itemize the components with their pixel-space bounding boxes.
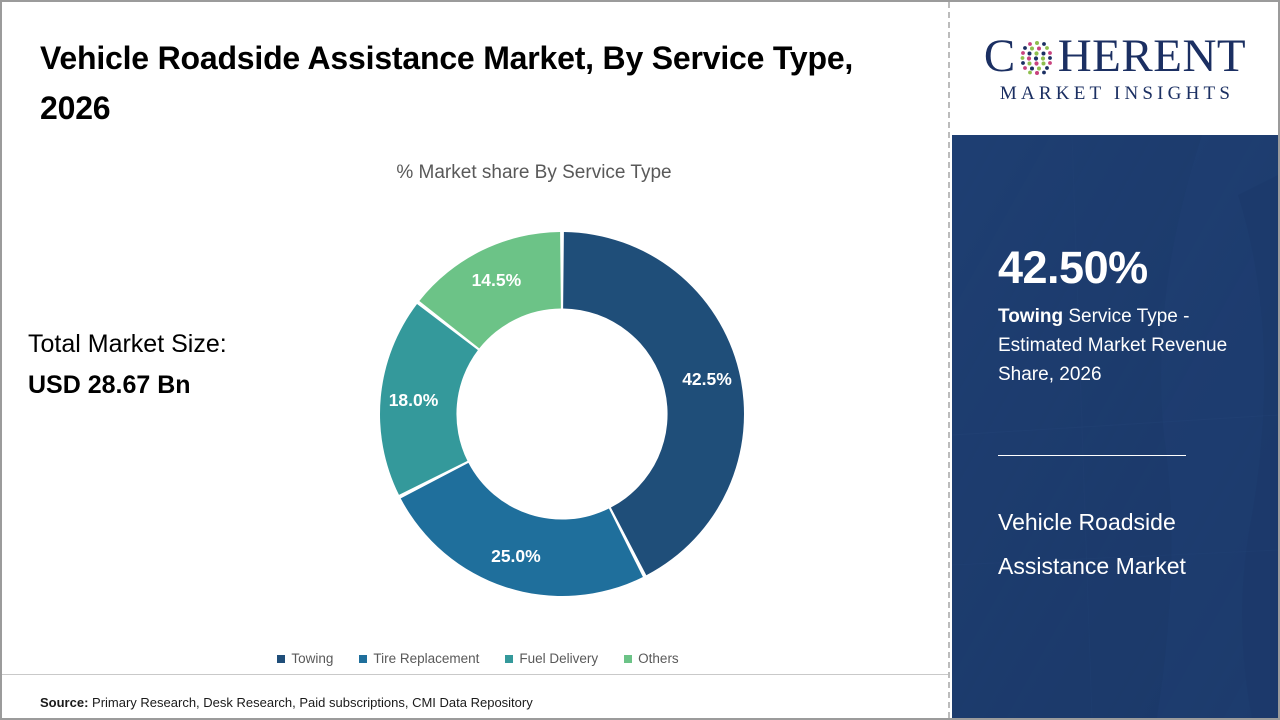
legend-label: Others (638, 651, 679, 666)
chart-legend: TowingTire ReplacementFuel DeliveryOther… (2, 651, 948, 666)
page-title: Vehicle Roadside Assistance Market, By S… (40, 34, 900, 133)
source-text: Primary Research, Desk Research, Paid su… (88, 695, 532, 710)
brand-name-part1: C (984, 33, 1016, 80)
panel-background-texture (952, 135, 1278, 718)
chart-subtitle: % Market share By Service Type (2, 162, 948, 184)
brand-tagline: MARKET INSIGHTS (996, 83, 1234, 105)
total-market-size: Total Market Size: USD 28.67 Bn (28, 324, 227, 406)
panel-dashed-divider (948, 2, 950, 718)
donut-label-others: 14.5% (472, 270, 522, 290)
legend-swatch-icon (624, 655, 632, 663)
stat-description-emphasis: Towing (998, 306, 1063, 327)
source-divider (2, 674, 948, 675)
donut-chart: 42.5%25.0%18.0%14.5% (378, 230, 746, 598)
brand-logo: C (952, 2, 1278, 135)
right-brand-panel: C (952, 2, 1278, 718)
donut-slices (380, 232, 744, 596)
panel-market-name: Vehicle Roadside Assistance Market (998, 501, 1248, 588)
infographic-page: Vehicle Roadside Assistance Market, By S… (0, 0, 1280, 720)
legend-swatch-icon (505, 655, 513, 663)
source-note: Source: Primary Research, Desk Research,… (40, 695, 533, 710)
source-label: Source: (40, 695, 88, 710)
legend-label: Towing (291, 651, 333, 666)
panel-divider (998, 455, 1186, 456)
legend-item-others[interactable]: Others (624, 651, 679, 666)
legend-swatch-icon (359, 655, 367, 663)
stat-value: 42.50% (998, 245, 1148, 290)
market-size-value: USD 28.67 Bn (28, 365, 227, 406)
stat-description: Towing Service Type - Estimated Market R… (998, 303, 1248, 390)
legend-swatch-icon (277, 655, 285, 663)
market-size-label: Total Market Size: (28, 324, 227, 365)
legend-label: Tire Replacement (373, 651, 479, 666)
donut-label-tire-replacement: 25.0% (491, 546, 541, 566)
legend-item-tire-replacement[interactable]: Tire Replacement (359, 651, 479, 666)
left-content-panel: Vehicle Roadside Assistance Market, By S… (2, 2, 948, 718)
legend-item-towing[interactable]: Towing (277, 651, 333, 666)
legend-label: Fuel Delivery (519, 651, 598, 666)
brand-name-part2: HERENT (1058, 33, 1246, 80)
legend-item-fuel-delivery[interactable]: Fuel Delivery (505, 651, 598, 666)
donut-chart-svg: 42.5%25.0%18.0%14.5% (378, 230, 746, 598)
donut-label-towing: 42.5% (682, 369, 732, 389)
donut-label-fuel-delivery: 18.0% (389, 390, 439, 410)
globe-dots-icon (1017, 38, 1057, 78)
highlight-panel: 42.50% Towing Service Type - Estimated M… (952, 135, 1278, 718)
brand-name: C (984, 33, 1246, 80)
donut-slice-tire-replacement (401, 463, 643, 596)
